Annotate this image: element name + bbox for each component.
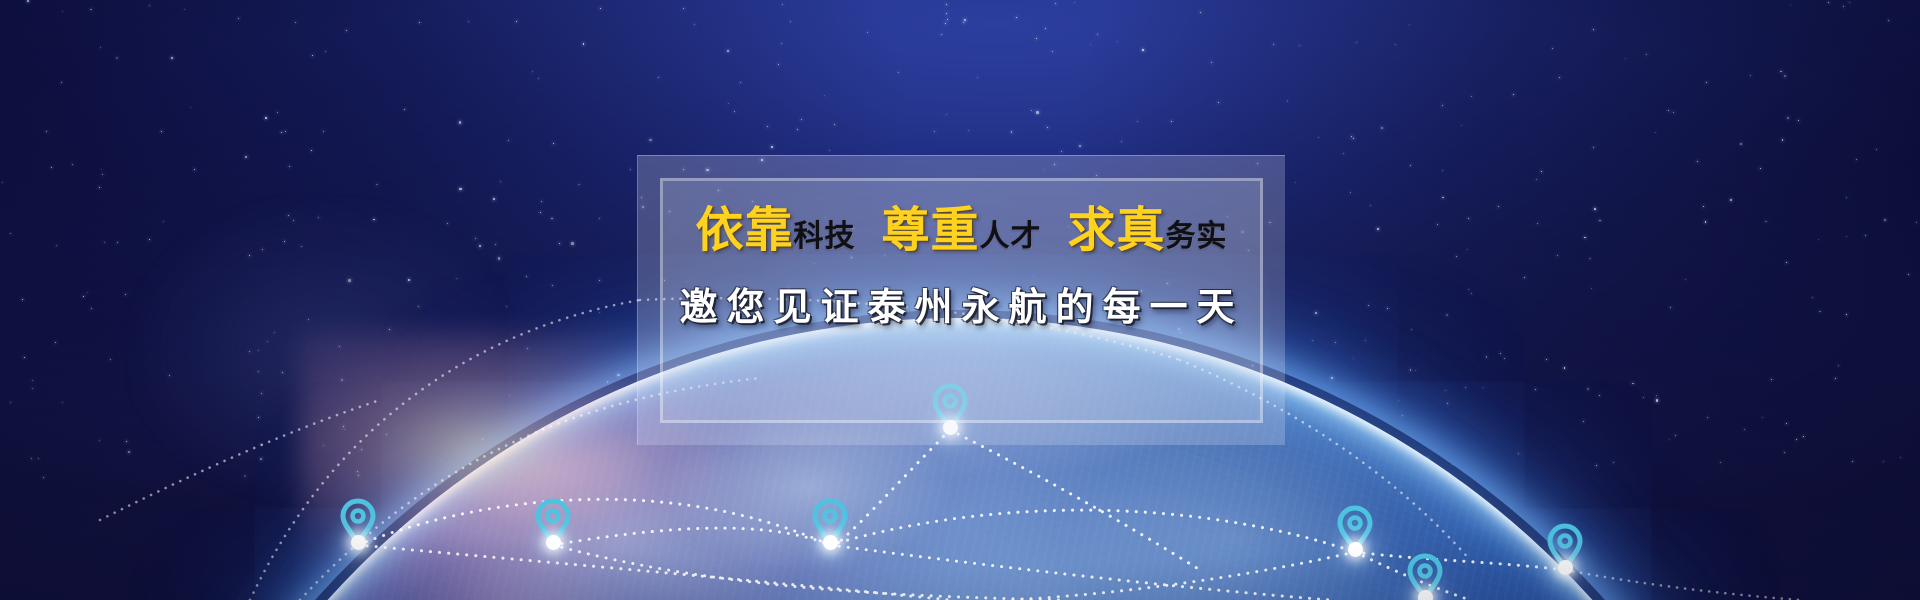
- panel-content: 依靠科技 尊重人才 求真务实 邀您见证泰州永航的每一天: [638, 206, 1285, 326]
- slogan-segment-1: 依靠: [695, 202, 793, 258]
- location-pin-icon: [536, 499, 570, 545]
- slogan-line-2: 邀您见证泰州永航的每一天: [638, 288, 1285, 326]
- slogan-segment-4: 人才: [980, 219, 1042, 254]
- location-pin-icon: [1338, 506, 1372, 552]
- slogan-line-1: 依靠科技 尊重人才 求真务实: [638, 206, 1285, 254]
- slogan-segment-6: 务实: [1166, 219, 1228, 254]
- slogan-segment-2: 科技: [793, 219, 855, 254]
- slogan-segment-5: 求真: [1068, 202, 1166, 258]
- pin-glow-dot: [546, 535, 561, 550]
- pin-glow-dot: [1558, 560, 1573, 575]
- slogan-gap: [855, 222, 881, 252]
- location-pin-icon: [1408, 554, 1442, 600]
- location-pin-icon: [341, 499, 375, 545]
- slogan-segment-3: 尊重: [881, 202, 979, 258]
- slogan-glass-panel: 依靠科技 尊重人才 求真务实 邀您见证泰州永航的每一天: [637, 155, 1285, 445]
- slogan-gap: [1042, 222, 1068, 252]
- pin-glow-dot: [351, 535, 366, 550]
- hero-banner: 依靠科技 尊重人才 求真务实 邀您见证泰州永航的每一天: [0, 0, 1920, 600]
- pin-glow-dot: [1348, 542, 1363, 557]
- location-pin-icon: [813, 499, 847, 545]
- pin-glow-dot: [1418, 590, 1433, 600]
- location-pin-icon: [1548, 524, 1582, 570]
- pin-glow-dot: [823, 535, 838, 550]
